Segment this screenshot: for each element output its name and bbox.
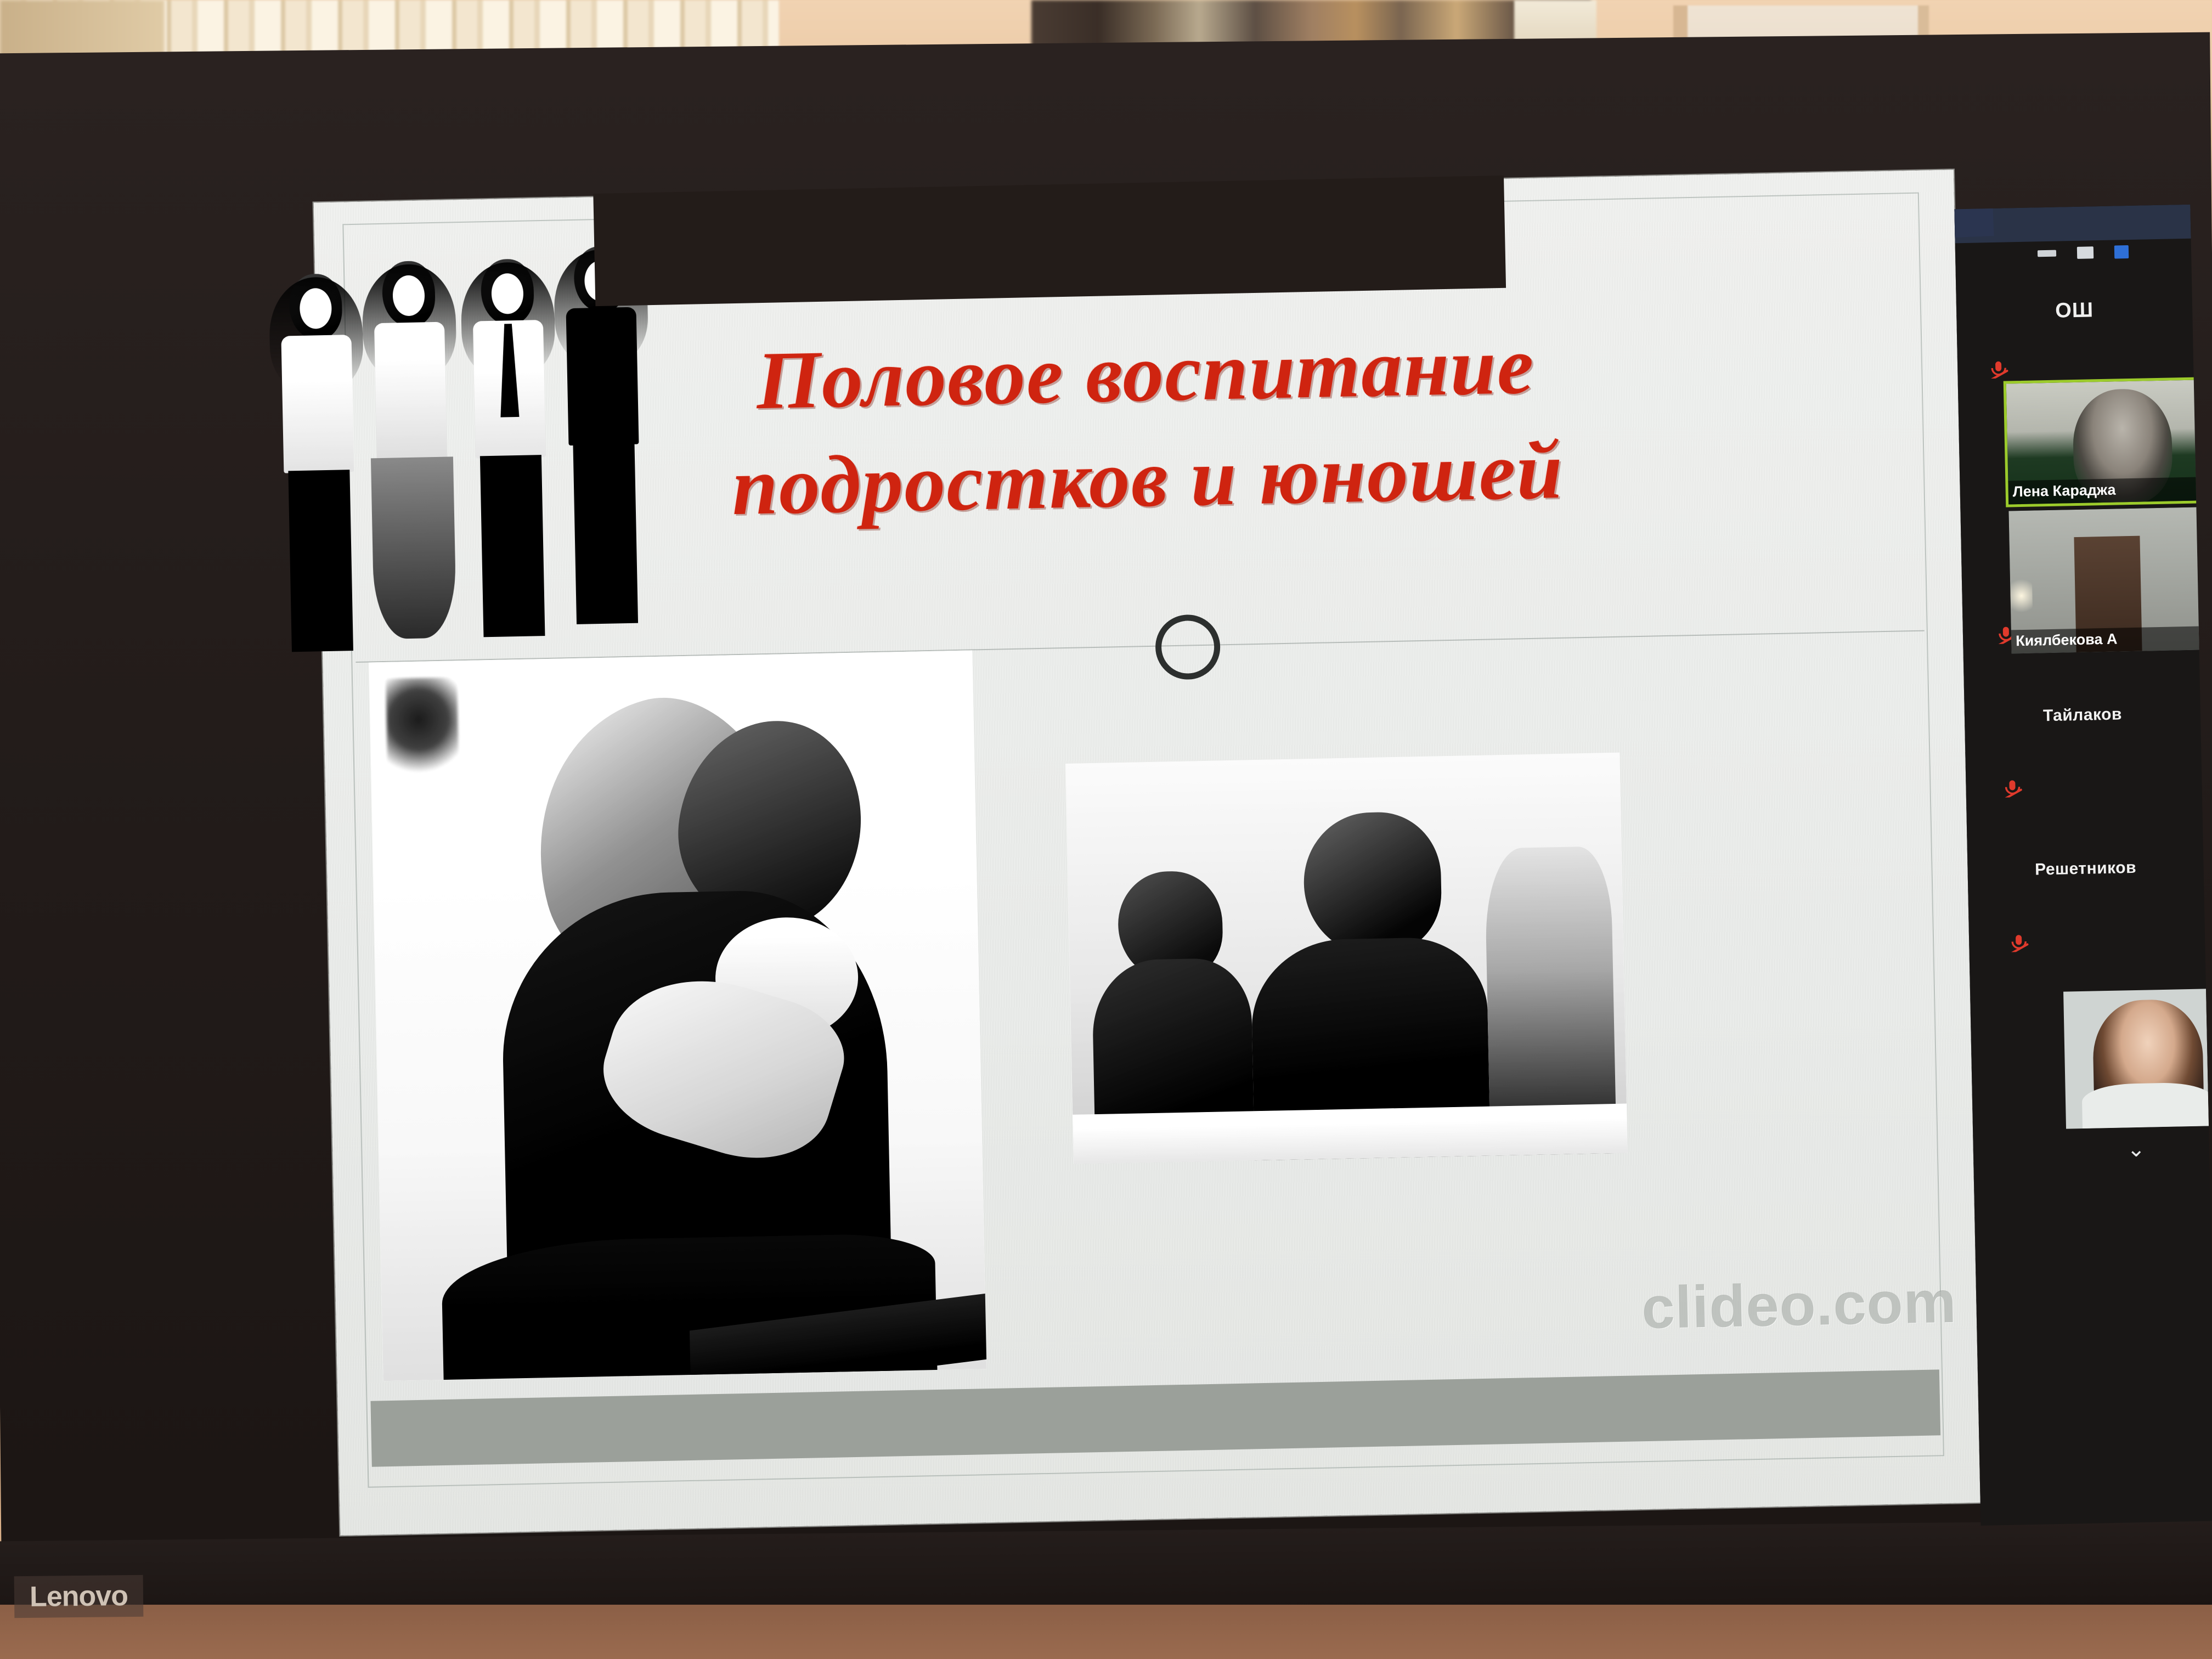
window-controls[interactable] bbox=[2038, 245, 2129, 260]
participant-name[interactable]: Решетников bbox=[1967, 857, 2204, 881]
participant-name: Киялбекова А bbox=[2011, 626, 2209, 653]
lenovo-logo: Lenovo bbox=[14, 1575, 144, 1618]
chevron-down-icon[interactable]: ⌄ bbox=[2126, 1138, 2145, 1161]
presentation-slide[interactable]: Половое воспитание подростков и юношей bbox=[314, 170, 1980, 1536]
slide-top-overlay-bar bbox=[593, 176, 1506, 306]
participant-tile[interactable]: Лена Караджа bbox=[2006, 380, 2206, 504]
participant-name: Лена Караджа bbox=[2008, 477, 2206, 504]
students-at-desk-photo bbox=[1065, 753, 1627, 1164]
photograph-root: Lenovo Половое воспитание подростков и ю… bbox=[0, 0, 2212, 1659]
desk-surface bbox=[0, 1605, 2212, 1659]
video-conference-panel[interactable]: ОШ Лена Караджа bbox=[1954, 205, 2212, 1526]
monitor-screen: Половое воспитание подростков и юношей bbox=[314, 166, 2151, 1558]
participant-avatar[interactable] bbox=[2063, 989, 2209, 1128]
close-icon[interactable] bbox=[2114, 245, 2129, 259]
vc-panel-header: ОШ bbox=[1956, 297, 2193, 325]
maximize-icon[interactable] bbox=[2077, 246, 2093, 259]
muted-microphone-icon bbox=[2002, 778, 2024, 798]
participant-tile[interactable]: Киялбекова А bbox=[2008, 507, 2209, 653]
lenovo-logo-text: Lenovo bbox=[30, 1579, 128, 1613]
minimize-icon[interactable] bbox=[2038, 250, 2056, 257]
clideo-watermark: clideo.com bbox=[1641, 1267, 1957, 1342]
muted-microphone-icon bbox=[1988, 359, 2011, 379]
participant-name[interactable]: Тайлаков bbox=[1965, 704, 2201, 727]
muted-microphone-icon bbox=[2008, 933, 2031, 952]
